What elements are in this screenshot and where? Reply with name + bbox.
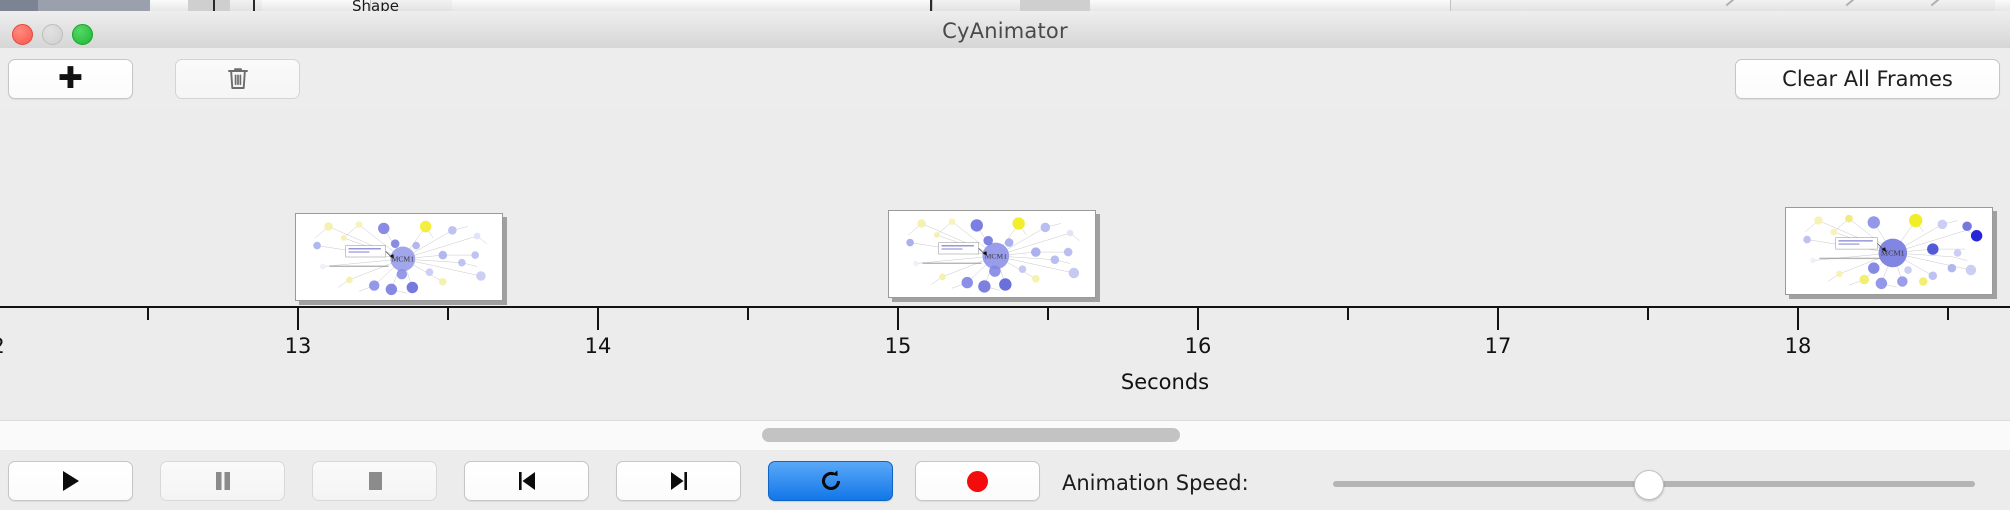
ruler-tick-major — [297, 308, 299, 330]
play-icon — [60, 469, 82, 493]
ruler-tick-minor — [1047, 308, 1049, 320]
ruler-tick-major — [597, 308, 599, 330]
animation-speed-slider-thumb[interactable] — [1634, 470, 1664, 500]
skip-forward-icon — [668, 469, 690, 493]
stop-icon — [364, 469, 386, 493]
ruler-tick-minor — [147, 308, 149, 320]
play-button[interactable] — [8, 461, 133, 501]
keyframe-preview: MCM1 — [299, 217, 499, 297]
record-button[interactable] — [915, 461, 1040, 501]
ruler-tick-label: 14 — [585, 334, 612, 358]
timeline-scrollbar[interactable] — [0, 420, 2010, 451]
ruler-axis-title: Seconds — [1121, 370, 1209, 394]
network-node-label: MCM1 — [985, 252, 1008, 261]
next-frame-button[interactable] — [616, 461, 741, 501]
ruler-tick-minor — [1347, 308, 1349, 320]
playback-controls: Animation Speed: — [0, 450, 2010, 510]
previous-frame-button[interactable] — [464, 461, 589, 501]
ruler-tick-minor — [1947, 308, 1949, 320]
keyframe-preview: MCM1 — [892, 214, 1092, 294]
ruler-tick-label: 15 — [885, 334, 912, 358]
keyframe-preview: MCM1 — [1789, 211, 1989, 291]
clear-all-frames-button[interactable]: Clear All Frames — [1735, 59, 2000, 99]
ruler-tick-minor — [447, 308, 449, 320]
record-icon — [967, 471, 988, 492]
add-frame-button[interactable]: ✚ — [8, 59, 133, 99]
network-node-label: MCM1 — [392, 255, 415, 264]
network-node-label: MCM1 — [1881, 249, 1905, 258]
timeline-ruler[interactable]: 2131415161718 Seconds — [0, 306, 2010, 420]
pause-icon — [212, 469, 234, 493]
keyframe-thumbnail[interactable]: MCM1 — [1785, 207, 1993, 295]
skip-back-icon — [516, 469, 538, 493]
clear-all-frames-label: Clear All Frames — [1782, 67, 1953, 91]
ruler-tick-label: 13 — [285, 334, 312, 358]
ruler-tick-label: 18 — [1785, 334, 1812, 358]
loop-icon — [818, 468, 844, 494]
stop-button[interactable] — [312, 461, 437, 501]
trash-icon — [227, 66, 249, 92]
ruler-tick-minor — [1647, 308, 1649, 320]
delete-frame-button[interactable] — [175, 59, 300, 99]
ruler-tick-major — [897, 308, 899, 330]
animation-speed-label: Animation Speed: — [1062, 471, 1249, 495]
title-bar: CyAnimator — [0, 11, 2010, 49]
ruler-tick-major — [1497, 308, 1499, 330]
ruler-tick-label: 2 — [0, 334, 5, 358]
scrollbar-thumb[interactable] — [762, 428, 1180, 442]
plus-icon: ✚ — [58, 64, 83, 94]
ruler-tick-label: 17 — [1485, 334, 1512, 358]
network-graph-preview: MCM1 — [892, 214, 1092, 294]
ruler-tick-major — [1797, 308, 1799, 330]
timeline-canvas[interactable]: MCM1 — [0, 110, 2010, 420]
loop-button[interactable] — [768, 461, 893, 501]
background-window-strip: Shape — [0, 0, 2010, 11]
toolbar: ✚ Clear All Frames — [0, 48, 2010, 111]
keyframe-thumbnail[interactable]: MCM1 — [888, 210, 1096, 298]
keyframe-thumbnail[interactable]: MCM1 — [295, 213, 503, 301]
ruler-tick-minor — [747, 308, 749, 320]
pause-button[interactable] — [160, 461, 285, 501]
window-title: CyAnimator — [0, 19, 2010, 43]
ruler-baseline — [0, 306, 2010, 308]
network-graph-preview: MCM1 — [299, 217, 499, 297]
network-graph-preview: MCM1 — [1789, 211, 1989, 291]
ruler-tick-label: 16 — [1185, 334, 1212, 358]
cyanimator-window: Shape CyAnimator ✚ Cle — [0, 0, 2010, 510]
background-window-label: Shape — [352, 0, 399, 11]
ruler-tick-major — [1197, 308, 1199, 330]
